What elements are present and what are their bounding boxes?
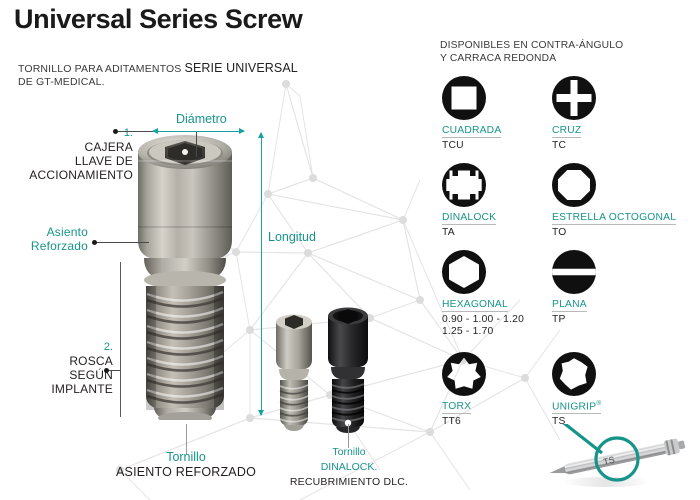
drive-cell-cuadrada[interactable]: CUADRADA TCU [442, 76, 501, 152]
drive-panel-heading-line2: Y CARRACA REDONDA [440, 53, 623, 66]
drive-cell-dinalock[interactable]: DINALOCK TA [442, 163, 496, 239]
diameter-label: Diámetro [176, 112, 227, 126]
drive-name-torx: TORX [442, 401, 471, 414]
unigrip-drive-icon [552, 352, 596, 396]
caption-main-bottom: ASIENTO REFORZADO [106, 465, 266, 480]
drive-cell-torx[interactable]: TORX TT6 [442, 352, 486, 428]
page-title: Universal Series Screw [14, 4, 302, 35]
drive-cell-estrella-octogonal[interactable]: ESTRELLA OCTOGONAL TO [552, 163, 676, 239]
drive-code-cruz: TC [552, 140, 596, 152]
callout-2-leader [108, 370, 120, 371]
drive-code-torx: TT6 [442, 416, 486, 428]
callout-1-line2: LLAVE DE [18, 154, 133, 168]
drive-cell-plana[interactable]: PLANA TP [552, 250, 596, 326]
main-screw-illustration [130, 130, 240, 420]
callout-seat-leader [96, 242, 149, 243]
callout-1-leader-drop [196, 131, 197, 157]
callout-1-dot [113, 129, 118, 134]
intro-line1-strong: SERIE UNIVERSAL [185, 61, 298, 75]
drive-name-plana: PLANA [552, 299, 587, 312]
drive-cell-hexagonal[interactable]: HEXAGONAL 0.90 - 1.00 - 1.20 1.25 - 1.70 [442, 250, 524, 338]
tool-magnifier-leader [560, 424, 602, 453]
intro-line2: DE GT-MEDICAL. [18, 76, 298, 89]
torx-drive-icon [442, 352, 486, 396]
callout-2-line2: SEGÚN [18, 368, 113, 382]
callout-1-line1: CAJERA [18, 140, 133, 154]
callout-1-line3: ACCIONAMIENTO [18, 168, 133, 182]
callout-2-line1: ROSCA [18, 354, 113, 368]
drive-name-dinalock: DINALOCK [442, 212, 496, 225]
drive-code-cuadrada: TCU [442, 140, 501, 152]
callout-2-line3: IMPLANTE [18, 382, 113, 396]
caption-dark-line1: Tornillo [283, 445, 415, 460]
callout-rosca: 2. ROSCA SEGÚN IMPLANTE [18, 340, 113, 396]
square-drive-icon [442, 76, 486, 120]
callout-asiento-reforzado: Asiento Reforzado [10, 225, 88, 253]
drive-code-unigrip: TS [552, 416, 601, 428]
octagon-drive-icon [552, 163, 596, 207]
hexagon-drive-icon [442, 250, 486, 294]
drive-sizes-hexagonal-line1: 0.90 - 1.00 - 1.20 [442, 314, 524, 326]
cross-drive-icon [552, 76, 596, 120]
drive-panel-heading: DISPONIBLES EN CONTRA-ÁNGULO Y CARRACA R… [440, 40, 623, 65]
callout-cajera: 1. CAJERA LLAVE DE ACCIONAMIENTO [18, 126, 133, 182]
callout-seat-dot [92, 240, 97, 245]
dinalock-drive-icon [442, 163, 486, 207]
trademark-mark: ® [596, 400, 601, 407]
caption-main-screw: Tornillo ASIENTO REFORZADO [106, 450, 266, 480]
unigrip-driver-tool-illustration: TS [540, 424, 700, 500]
callout-2-dot [104, 368, 109, 373]
tool-engraving-text: TS [602, 454, 616, 466]
callout-seat-line1: Asiento [10, 225, 88, 239]
drive-cell-unigrip[interactable]: UNIGRIP® TS [552, 352, 601, 428]
callout-2-bracket [120, 262, 121, 417]
drive-panel-heading-line1: DISPONIBLES EN CONTRA-ÁNGULO [440, 40, 623, 53]
caption-dark-line3: RECUBRIMIENTO DLC. [283, 475, 415, 490]
drive-name-cruz: CRUZ [552, 125, 581, 138]
callout-2-number: 2. [18, 340, 113, 354]
length-label: Longitud [268, 230, 316, 244]
diameter-arrow [153, 131, 244, 132]
intro-text: TORNILLO PARA ADITAMENTOS SERIE UNIVERSA… [18, 62, 298, 89]
drive-name-unigrip: UNIGRIP® [552, 400, 601, 414]
callout-seat-line2: Reforzado [10, 239, 88, 253]
drive-code-dinalock: TA [442, 227, 496, 239]
intro-line1-prefix: TORNILLO PARA ADITAMENTOS [18, 63, 181, 75]
drive-cell-cruz[interactable]: CRUZ TC [552, 76, 596, 152]
drive-name-cuadrada: CUADRADA [442, 125, 501, 138]
drive-name-hexagonal: HEXAGONAL [442, 299, 508, 312]
flat-drive-icon [552, 250, 596, 294]
drive-sizes-hexagonal-line2: 1.25 - 1.70 [442, 326, 524, 338]
drive-code-estrella-octogonal: TO [552, 227, 676, 239]
drive-code-plana: TP [552, 314, 596, 326]
caption-dinalock-screw: Tornillo DINALOCK. RECUBRIMIENTO DLC. [283, 445, 415, 490]
dinalock-dlc-screw-illustration [322, 302, 374, 434]
caption-main-top: Tornillo [106, 450, 266, 465]
length-arrow [261, 133, 262, 415]
drive-name-estrella-octogonal: ESTRELLA OCTOGONAL [552, 212, 676, 225]
drive-name-unigrip-text: UNIGRIP [552, 401, 596, 412]
caption-dark-line2: DINALOCK. [283, 460, 415, 475]
small-screw-illustration [270, 310, 318, 432]
infographic-canvas: Universal Series Screw TORNILLO PARA ADI… [0, 0, 700, 500]
